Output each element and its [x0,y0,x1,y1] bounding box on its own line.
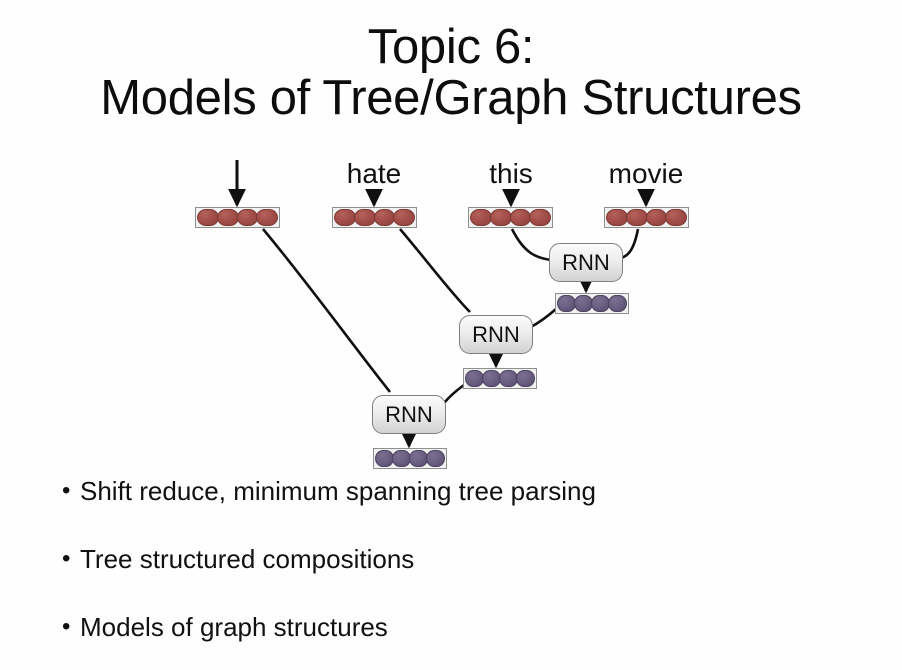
vector-cell [608,295,627,312]
vector-cell [626,209,648,226]
diagram-edges [0,0,902,480]
vector-cell [334,209,356,226]
composed-vector-1 [555,293,629,314]
vector-cell [426,450,445,467]
vector-cell [510,209,532,226]
rnn-node-3[interactable]: RNN [372,395,446,434]
list-item: • Tree structured compositions [62,544,862,574]
vector-cell [374,209,396,226]
vector-cell [197,209,219,226]
composed-vector-3 [373,448,447,469]
rnn-node-1[interactable]: RNN [549,243,623,282]
vector-cell [490,209,512,226]
input-vector-4 [604,207,689,228]
bullet-text-1: Shift reduce, minimum spanning tree pars… [80,476,596,506]
bullet-list: • Shift reduce, minimum spanning tree pa… [62,476,862,670]
word-label-hate: hate [347,158,402,190]
edge-vector1-to-rnn3 [263,229,390,392]
rnn-node-2[interactable]: RNN [459,315,533,354]
edge-composed1-to-rnn2 [531,309,556,327]
list-item: • Models of graph structures [62,612,862,642]
vector-cell [665,209,687,226]
list-item: • Shift reduce, minimum spanning tree pa… [62,476,862,506]
vector-cell [393,209,415,226]
bullet-dot-icon: • [62,612,80,642]
edge-composed2-to-rnn3 [444,385,464,403]
vector-cell [529,209,551,226]
vector-cell [217,209,239,226]
bullet-text-3: Models of graph structures [80,612,388,642]
input-vector-1 [195,207,280,228]
word-label-this: this [489,158,533,190]
vector-cell [646,209,668,226]
composed-vector-2 [463,368,537,389]
edge-vector2-to-rnn2 [400,229,470,312]
edge-vector3-to-rnn1 [512,229,551,260]
vector-cell [256,209,278,226]
input-vector-3 [468,207,553,228]
bullet-dot-icon: • [62,476,80,506]
vector-cell [516,370,535,387]
vector-cell [237,209,259,226]
edge-vector4-to-rnn1 [621,229,638,258]
word-label-movie: movie [609,158,684,190]
tree-structure-diagram: hate this movie RNN RNN RNN [0,0,902,480]
slide-canvas: Topic 6: Models of Tree/Graph Structures [0,0,902,670]
vector-cell [354,209,376,226]
vector-cell [606,209,628,226]
vector-cell [470,209,492,226]
input-vector-2 [332,207,417,228]
bullet-dot-icon: • [62,544,80,574]
bullet-text-2: Tree structured compositions [80,544,414,574]
